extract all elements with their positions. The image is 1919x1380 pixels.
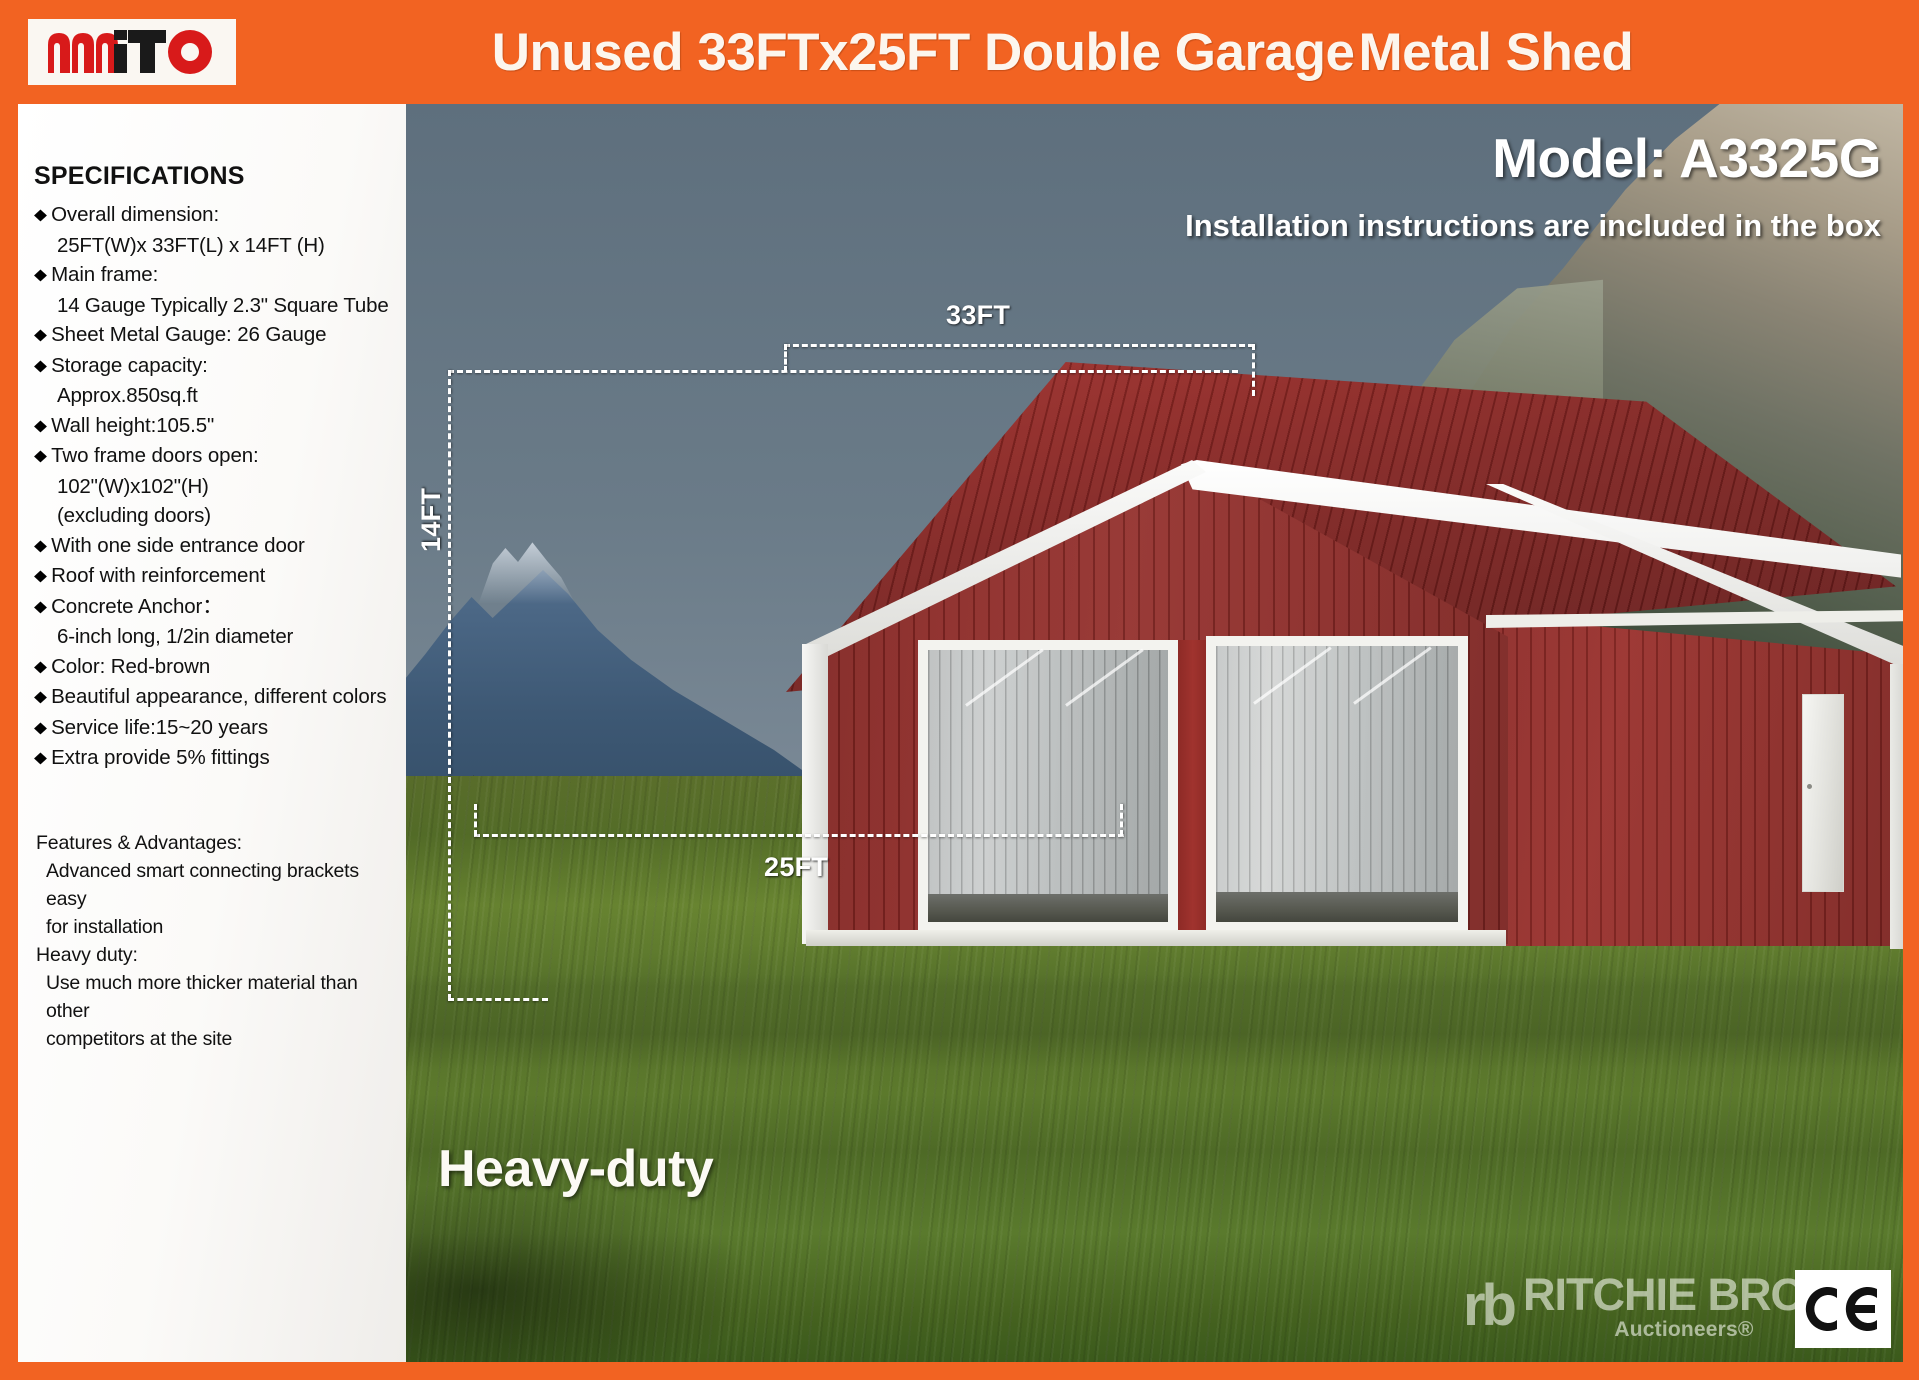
specifications-panel: SPECIFICATIONS ◆ Overall dimension: 25FT…	[18, 104, 406, 1362]
watermark-subtitle: Auctioneers®	[1614, 1319, 1753, 1340]
side-door-handle-icon	[1807, 784, 1812, 789]
spec-row: ◆ Storage capacity:	[34, 351, 394, 381]
diamond-bullet-icon: ◆	[34, 532, 47, 559]
product-advertisement-page: Unused 33FTx25FT Double GarageMetal Shed…	[0, 0, 1919, 1380]
mito-logo-icon	[44, 27, 220, 77]
dimension-line-width-left-tick	[474, 804, 477, 836]
page-title-part2: Metal Shed	[1358, 23, 1633, 82]
diamond-bullet-icon: ◆	[34, 683, 47, 710]
diamond-bullet-icon: ◆	[34, 201, 47, 228]
spec-label: Concrete Anchor：	[51, 592, 223, 622]
garage-door-right-interior-ribs	[1216, 646, 1458, 922]
garage-floor-right	[1216, 892, 1458, 922]
features-body-line: for installation	[36, 913, 394, 941]
dimension-label-height: 14FT	[416, 488, 447, 552]
spec-row: ◆ Concrete Anchor：	[34, 592, 394, 622]
heavy-duty-body-line: Use much more thicker material than othe…	[36, 969, 394, 1025]
ce-mark-icon	[1803, 1281, 1883, 1337]
diamond-bullet-icon: ◆	[34, 653, 47, 680]
diamond-bullet-icon: ◆	[34, 412, 47, 439]
dimension-line-width-right-tick	[1120, 804, 1123, 836]
spec-row: ◆ Wall height:105.5"	[34, 411, 394, 441]
features-heading: Features & Advantages:	[36, 829, 394, 857]
diamond-bullet-icon: ◆	[34, 593, 47, 620]
spec-subline: 14 Gauge Typically 2.3ʺ Square Tube	[34, 291, 394, 321]
left-corner-trim	[802, 644, 828, 944]
rb-monogram-icon: rb	[1463, 1277, 1513, 1335]
spec-label: Extra provide 5% fittings	[51, 743, 270, 773]
spec-label: Overall dimension:	[51, 200, 219, 230]
diamond-bullet-icon: ◆	[34, 442, 47, 469]
spec-label: Main frame:	[51, 260, 158, 290]
installation-note: Installation instructions are included i…	[1185, 208, 1881, 244]
ce-mark	[1795, 1270, 1891, 1348]
mito-logo	[28, 19, 236, 85]
spec-label: Beautiful appearance, different colors	[51, 682, 386, 712]
spec-row: ◆ Beautiful appearance, different colors	[34, 682, 394, 712]
spec-subline: (excluding doors)	[34, 501, 394, 531]
heavy-duty-overlay-label: Heavy-duty	[438, 1139, 713, 1199]
spec-label: Roof with reinforcement	[51, 561, 265, 591]
dimension-label-width: 25FT	[764, 852, 828, 883]
garage-floor-left	[928, 894, 1168, 922]
dimension-line-height-vertical	[448, 370, 451, 1000]
spec-label: Storage capacity:	[51, 351, 208, 381]
page-title-part1: Unused 33FTx25FT Double Garage	[492, 23, 1355, 82]
dimension-label-length: 33FT	[946, 300, 1010, 331]
spec-label: Service life:15~20 years	[51, 713, 268, 743]
spec-subline: 102"(W)x102"(H)	[34, 472, 394, 502]
spec-row: ◆ Sheet Metal Gauge: 26 Gauge	[34, 320, 394, 350]
dimension-line-length-top	[784, 344, 1254, 347]
spec-label: Sheet Metal Gauge: 26 Gauge	[51, 320, 326, 350]
spec-row: ◆ Service life:15~20 years	[34, 713, 394, 743]
spec-row: ◆ Main frame:	[34, 260, 394, 290]
spec-label: Two frame doors open:	[51, 441, 259, 471]
right-corner-trim	[1890, 664, 1903, 949]
garage-door-left-interior-ribs	[928, 650, 1168, 922]
diamond-bullet-icon: ◆	[34, 562, 47, 589]
spec-row: ◆ Extra provide 5% fittings	[34, 743, 394, 773]
model-label: Model: A3325G	[1492, 126, 1881, 190]
product-photo: 33FT 14FT 25FT Model: A3325G Installatio…	[406, 104, 1903, 1362]
dimension-line-height-bottom	[448, 998, 548, 1001]
diamond-bullet-icon: ◆	[34, 261, 47, 288]
spec-label: Color: Red-brown	[51, 652, 210, 682]
spec-row: ◆ Overall dimension:	[34, 200, 394, 230]
diamond-bullet-icon: ◆	[34, 744, 47, 771]
spec-row: ◆ Two frame doors open:	[34, 441, 394, 471]
front-base-trim	[806, 930, 1506, 946]
spec-label: With one side entrance door	[51, 531, 305, 561]
dimension-line-length-right-tick	[1252, 344, 1255, 396]
features-body-line: Advanced smart connecting brackets easy	[36, 857, 394, 913]
diamond-bullet-icon: ◆	[34, 321, 47, 348]
center-post	[1178, 640, 1208, 930]
heavy-duty-body-line: competitors at the site	[36, 1025, 394, 1053]
diamond-bullet-icon: ◆	[34, 352, 47, 379]
spec-row: ◆ Roof with reinforcement	[34, 561, 394, 591]
page-title: Unused 33FTx25FT Double GarageMetal Shed	[236, 26, 1919, 79]
spec-label: Wall height:105.5"	[51, 411, 214, 441]
spec-subline: 6-inch long, 1/2in diameter	[34, 622, 394, 652]
ritchie-bros-watermark: rb RITCHIE BROS. Auctioneers®	[1463, 1272, 1845, 1340]
spec-subline: Approx.850sq.ft	[34, 381, 394, 411]
spec-subline: 25FT(W)x 33FT(L) x 14FT (H)	[34, 231, 394, 261]
dimension-line-length-left-tick	[784, 344, 787, 372]
side-entrance-door	[1802, 694, 1844, 892]
header-bar: Unused 33FTx25FT Double GarageMetal Shed	[0, 0, 1919, 104]
dimension-line-height-top	[448, 370, 1238, 373]
features-and-advantages-block: Features & Advantages: Advanced smart co…	[34, 829, 394, 1053]
heavy-duty-heading: Heavy duty:	[36, 941, 394, 969]
dimension-line-width-bottom	[474, 834, 1124, 837]
specifications-heading: SPECIFICATIONS	[34, 162, 394, 191]
spec-row: ◆ With one side entrance door	[34, 531, 394, 561]
spec-row: ◆ Color: Red-brown	[34, 652, 394, 682]
diamond-bullet-icon: ◆	[34, 714, 47, 741]
